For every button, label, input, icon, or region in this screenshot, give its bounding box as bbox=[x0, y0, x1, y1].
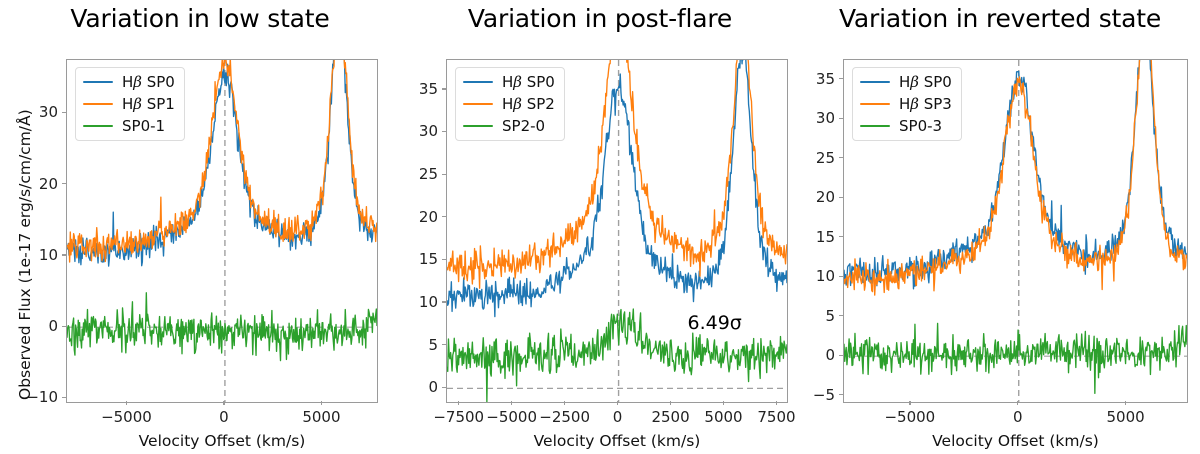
legend-label: SP0-3 bbox=[899, 119, 942, 134]
legend-item[interactable]: SP0-1 bbox=[83, 118, 175, 134]
legend-label: Hβ SP2 bbox=[502, 97, 555, 112]
x-tick-label: 5000 bbox=[704, 408, 742, 426]
legend-item[interactable]: SP0-3 bbox=[860, 118, 952, 134]
y-tick-mark bbox=[442, 387, 446, 388]
spectral-variation-figure: Variation in low state Observed Flux (1e… bbox=[0, 0, 1200, 454]
legend-item[interactable]: Hβ SP1 bbox=[83, 96, 175, 112]
y-tick-mark bbox=[442, 301, 446, 302]
x-tick-label: 0 bbox=[613, 408, 623, 426]
y-tick-label: 15 bbox=[785, 228, 835, 246]
y-tick-mark bbox=[839, 197, 843, 198]
y-tick-label: 35 bbox=[388, 80, 438, 98]
x-tick-label: −5000 bbox=[884, 408, 935, 426]
panel-title: Variation in reverted state bbox=[800, 4, 1200, 33]
spectrum-line-sp0-3 bbox=[844, 323, 1187, 393]
x-tick-label: −7500 bbox=[433, 408, 484, 426]
legend-color-swatch bbox=[463, 125, 493, 128]
legend-item[interactable]: Hβ SP3 bbox=[860, 96, 952, 112]
x-tick-label: −5000 bbox=[101, 408, 152, 426]
x-tick-label: −5000 bbox=[486, 408, 537, 426]
y-tick-mark bbox=[839, 157, 843, 158]
y-tick-label: 0 bbox=[8, 317, 58, 335]
x-tick-mark bbox=[321, 401, 322, 405]
legend-item[interactable]: Hβ SP0 bbox=[463, 74, 555, 90]
x-tick-mark bbox=[723, 401, 724, 405]
y-tick-mark bbox=[442, 88, 446, 89]
legend-label: Hβ SP0 bbox=[122, 75, 175, 90]
panel-title: Variation in low state bbox=[0, 4, 400, 33]
y-tick-label: 10 bbox=[785, 267, 835, 285]
x-tick-mark bbox=[223, 401, 224, 405]
legend-color-swatch bbox=[83, 125, 113, 128]
y-tick-label: 15 bbox=[388, 250, 438, 268]
legend-item[interactable]: SP2-0 bbox=[463, 118, 555, 134]
legend-item[interactable]: Hβ SP0 bbox=[860, 74, 952, 90]
y-tick-mark bbox=[62, 254, 66, 255]
y-tick-label: 30 bbox=[8, 103, 58, 121]
x-axis-label: Velocity Offset (km/s) bbox=[66, 432, 378, 450]
x-tick-mark bbox=[776, 401, 777, 405]
x-tick-label: 0 bbox=[219, 408, 229, 426]
y-tick-mark bbox=[839, 78, 843, 79]
legend-label: SP2-0 bbox=[502, 119, 545, 134]
x-tick-label: 0 bbox=[1013, 408, 1023, 426]
legend-color-swatch bbox=[463, 81, 493, 84]
y-tick-label: 0 bbox=[388, 378, 438, 396]
x-tick-mark bbox=[458, 401, 459, 405]
legend-color-swatch bbox=[860, 125, 890, 128]
y-tick-label: 25 bbox=[785, 149, 835, 167]
legend[interactable]: Hβ SP0Hβ SP3SP0-3 bbox=[852, 67, 962, 141]
y-tick-mark bbox=[442, 344, 446, 345]
y-tick-mark bbox=[442, 131, 446, 132]
x-tick-label: 5000 bbox=[1107, 408, 1145, 426]
x-tick-mark bbox=[670, 401, 671, 405]
x-tick-label: 5000 bbox=[302, 408, 340, 426]
y-tick-mark bbox=[442, 216, 446, 217]
legend[interactable]: Hβ SP0Hβ SP1SP0-1 bbox=[75, 67, 185, 141]
y-tick-label: 20 bbox=[8, 175, 58, 193]
x-tick-mark bbox=[1017, 401, 1018, 405]
x-tick-label: 2500 bbox=[651, 408, 689, 426]
legend-label: Hβ SP1 bbox=[122, 97, 175, 112]
x-tick-mark bbox=[1125, 401, 1126, 405]
y-tick-label: 10 bbox=[8, 246, 58, 264]
x-tick-label: 7500 bbox=[757, 408, 795, 426]
x-tick-mark bbox=[909, 401, 910, 405]
significance-annotation: 6.49σ bbox=[687, 312, 741, 334]
legend-label: Hβ SP0 bbox=[899, 75, 952, 90]
y-tick-mark bbox=[62, 397, 66, 398]
panel-post-flare: Variation in post-flare Velocity Offset … bbox=[400, 0, 800, 454]
y-tick-mark bbox=[62, 112, 66, 113]
y-tick-label: 0 bbox=[785, 346, 835, 364]
y-tick-mark bbox=[442, 259, 446, 260]
y-tick-label: 10 bbox=[388, 293, 438, 311]
y-tick-mark bbox=[839, 355, 843, 356]
x-tick-label: −2500 bbox=[539, 408, 590, 426]
y-tick-mark bbox=[839, 315, 843, 316]
legend-color-swatch bbox=[860, 81, 890, 84]
x-tick-mark bbox=[617, 401, 618, 405]
legend-color-swatch bbox=[83, 103, 113, 106]
legend-color-swatch bbox=[83, 81, 113, 84]
legend-item[interactable]: Hβ SP2 bbox=[463, 96, 555, 112]
panel-reverted-state: Variation in reverted state Velocity Off… bbox=[800, 0, 1200, 454]
y-tick-label: 25 bbox=[388, 165, 438, 183]
y-tick-mark bbox=[62, 326, 66, 327]
x-axis-label: Velocity Offset (km/s) bbox=[843, 432, 1188, 450]
panel-title: Variation in post-flare bbox=[400, 4, 800, 33]
y-tick-label: 35 bbox=[785, 70, 835, 88]
y-tick-mark bbox=[839, 394, 843, 395]
y-tick-label: −5 bbox=[785, 386, 835, 404]
y-tick-label: 5 bbox=[785, 307, 835, 325]
y-tick-mark bbox=[62, 183, 66, 184]
y-tick-label: −10 bbox=[8, 388, 58, 406]
y-tick-mark bbox=[839, 118, 843, 119]
y-tick-label: 20 bbox=[785, 188, 835, 206]
x-axis-label: Velocity Offset (km/s) bbox=[446, 432, 788, 450]
legend-color-swatch bbox=[463, 103, 493, 106]
legend-label: Hβ SP3 bbox=[899, 97, 952, 112]
legend[interactable]: Hβ SP0Hβ SP2SP2-0 bbox=[455, 67, 565, 141]
y-tick-mark bbox=[442, 174, 446, 175]
x-tick-mark bbox=[126, 401, 127, 405]
y-tick-label: 30 bbox=[785, 109, 835, 127]
legend-color-swatch bbox=[860, 103, 890, 106]
legend-item[interactable]: Hβ SP0 bbox=[83, 74, 175, 90]
y-tick-label: 30 bbox=[388, 122, 438, 140]
x-tick-mark bbox=[564, 401, 565, 405]
legend-label: Hβ SP0 bbox=[502, 75, 555, 90]
y-tick-mark bbox=[839, 276, 843, 277]
y-tick-label: 5 bbox=[388, 336, 438, 354]
y-tick-label: 20 bbox=[388, 208, 438, 226]
panel-low-state: Variation in low state Observed Flux (1e… bbox=[0, 0, 400, 454]
y-tick-mark bbox=[839, 236, 843, 237]
x-tick-mark bbox=[511, 401, 512, 405]
legend-label: SP0-1 bbox=[122, 119, 165, 134]
